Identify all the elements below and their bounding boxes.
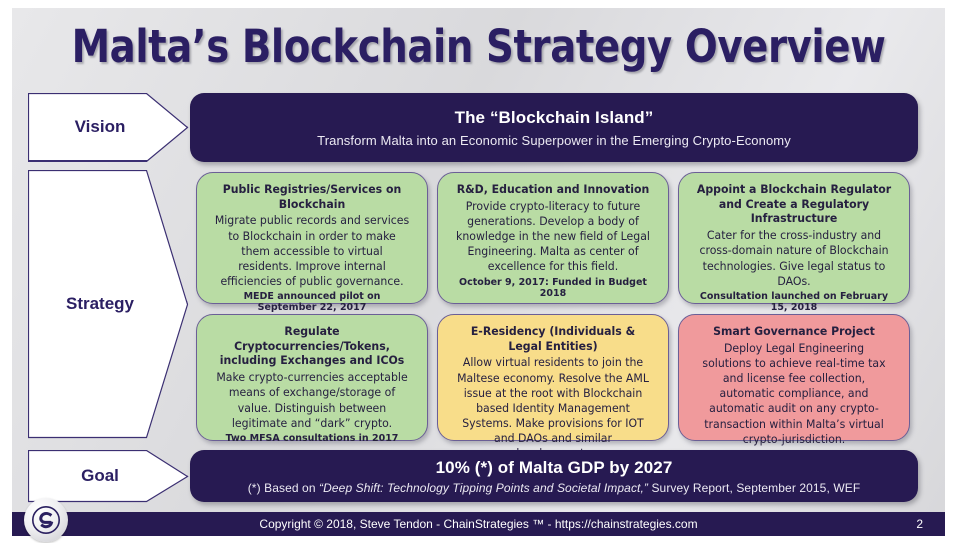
strategy-card-note: MEDE announced pilot on September 22, 20… [214,291,410,313]
goal-note: (*) Based on “Deep Shift: Technology Tip… [248,481,861,495]
strategy-card-body: Provide crypto-literacy to future genera… [455,199,651,275]
strategy-card[interactable]: Public Registries/Services on Blockchain… [196,172,428,304]
strategy-card[interactable]: E-Residency (Individuals & Legal Entitie… [437,314,669,441]
slide-root: Malta’s Blockchain Strategy Overview Vis… [0,0,957,543]
page-title: Malta’s Blockchain Strategy Overview [67,20,890,73]
strategy-card-body: Cater for the cross-industry and cross-d… [696,228,892,289]
goal-note-after: Survey Report, September 2015, WEF [648,481,860,495]
strategy-card-title: Appoint a Blockchain Regulator and Creat… [696,182,892,226]
strategy-card-title: R&D, Education and Innovation [455,182,651,197]
goal-title: 10% (*) of Malta GDP by 2027 [436,458,673,478]
footer-bar: Copyright © 2018, Steve Tendon - ChainSt… [12,512,945,536]
strategy-card[interactable]: Regulate Cryptocurrencies/Tokens, includ… [196,314,428,441]
strategy-card-body: Migrate public records and services to B… [214,213,410,289]
strategy-card-body: Make crypto-currencies acceptable means … [214,370,410,431]
vision-title: The “Blockchain Island” [455,108,654,128]
strategy-card-note: Two MFSA consultations in 2017 [214,433,410,444]
strategy-card-note: Consultation launched on February 15, 20… [696,291,892,313]
row-label-strategy-text: Strategy [66,294,134,314]
footer-copyright: Copyright © 2018, Steve Tendon - ChainSt… [259,517,697,531]
row-label-vision-text: Vision [75,117,126,137]
goal-note-citation: “Deep Shift: Technology Tipping Points a… [319,481,648,495]
page-number: 2 [916,512,923,536]
vision-banner: The “Blockchain Island” Transform Malta … [190,93,918,162]
strategy-card-title: Public Registries/Services on Blockchain [214,182,410,211]
strategy-card-note: October 9, 2017: Funded in Budget 2018 [455,277,651,299]
row-label-goal-text: Goal [81,466,119,486]
strategy-card-title: Regulate Cryptocurrencies/Tokens, includ… [214,324,410,368]
strategy-card[interactable]: R&D, Education and Innovation Provide cr… [437,172,669,304]
goal-note-before: (*) Based on [248,481,319,495]
strategy-card[interactable]: Smart Governance Project Deploy Legal En… [678,314,910,441]
chainstrategies-logo-icon [24,498,68,542]
strategy-card-title: Smart Governance Project [696,324,892,339]
vision-subtitle: Transform Malta into an Economic Superpo… [317,133,791,148]
strategy-card-title: E-Residency (Individuals & Legal Entitie… [455,324,651,353]
strategy-card[interactable]: Appoint a Blockchain Regulator and Creat… [678,172,910,304]
strategy-card-body: Deploy Legal Engineering solutions to ac… [696,341,892,447]
strategy-card-body: Allow virtual residents to join the Malt… [455,355,651,461]
goal-banner: 10% (*) of Malta GDP by 2027 (*) Based o… [190,450,918,502]
